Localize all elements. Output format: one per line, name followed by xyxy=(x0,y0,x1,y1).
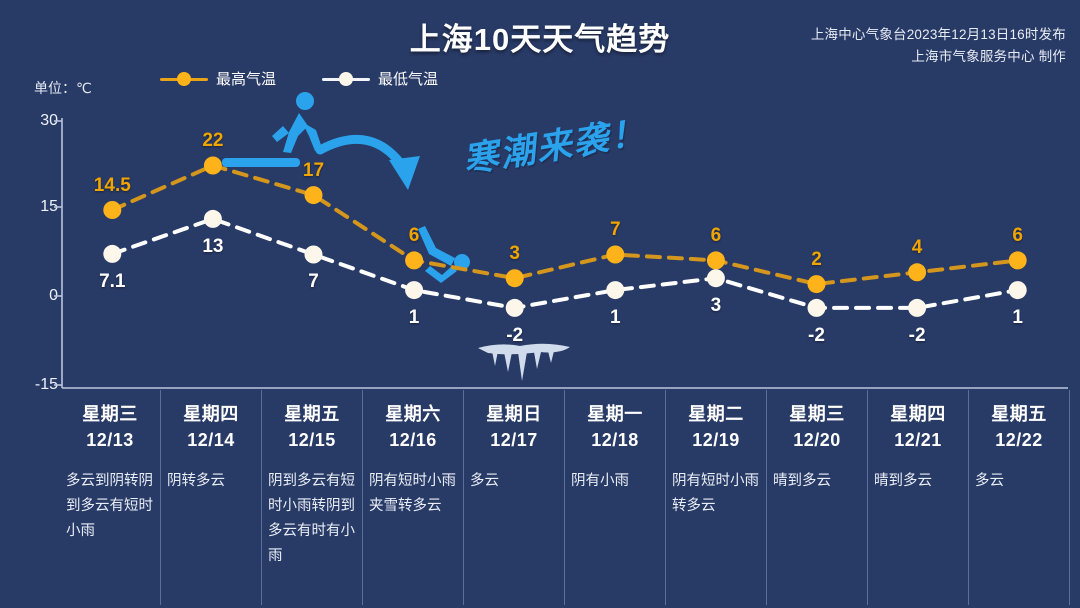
day-column-12-17[interactable]: 星期日12/17多云 xyxy=(464,390,565,605)
low-temp-label-12-13: 7.1 xyxy=(99,271,125,293)
data-point xyxy=(405,281,423,299)
data-point xyxy=(908,299,926,317)
data-point xyxy=(1009,281,1027,299)
day-column-12-14[interactable]: 星期四12/14阴转多云 xyxy=(161,390,262,605)
day-condition-text: 多云 xyxy=(975,469,1063,494)
day-condition-text: 阴有短时小雨转多云 xyxy=(672,469,760,519)
series-line xyxy=(112,166,1017,285)
day-date-label: 12/19 xyxy=(672,430,760,451)
data-point xyxy=(405,251,423,269)
day-date-label: 12/22 xyxy=(975,430,1063,451)
low-temp-label-12-18: 1 xyxy=(610,307,621,329)
day-column-12-20[interactable]: 星期三12/20晴到多云 xyxy=(767,390,868,605)
day-weekday-label: 星期三 xyxy=(773,400,861,426)
day-condition-text: 阴到多云有短时小雨转阴到多云有时有小雨 xyxy=(268,469,356,569)
day-condition-text: 晴到多云 xyxy=(773,469,861,494)
low-temp-label-12-17: -2 xyxy=(506,325,523,347)
day-column-12-15[interactable]: 星期五12/15阴到多云有短时小雨转阴到多云有时有小雨 xyxy=(262,390,363,605)
data-point xyxy=(808,275,826,293)
diver-figure-icon xyxy=(418,226,470,283)
day-date-label: 12/16 xyxy=(369,430,457,451)
cold-wave-arrow-head-icon xyxy=(389,156,420,190)
data-point xyxy=(606,281,624,299)
low-temp-label-12-22: 1 xyxy=(1012,307,1023,329)
low-temp-label-12-15: 7 xyxy=(308,271,319,293)
day-weekday-label: 星期五 xyxy=(268,400,356,426)
icicle-decoration-icon xyxy=(478,344,570,381)
day-column-12-21[interactable]: 星期四12/21晴到多云 xyxy=(868,390,969,605)
data-point xyxy=(808,299,826,317)
day-column-12-16[interactable]: 星期六12/16阴有短时小雨夹雪转多云 xyxy=(363,390,464,605)
day-date-label: 12/20 xyxy=(773,430,861,451)
high-temp-label-12-21: 4 xyxy=(912,237,923,259)
data-point xyxy=(204,157,222,175)
weather-trend-infographic: 上海10天天气趋势 上海中心气象台2023年12月13日16时发布 上海市气象服… xyxy=(0,0,1080,608)
data-point xyxy=(908,263,926,281)
high-temp-label-12-19: 6 xyxy=(711,225,722,247)
day-condition-text: 阴转多云 xyxy=(167,469,255,494)
day-condition-text: 多云到阴转阴到多云有短时小雨 xyxy=(66,469,154,544)
series-line xyxy=(112,219,1017,308)
day-condition-text: 阴有短时小雨夹雪转多云 xyxy=(369,469,457,519)
high-temp-label-12-18: 7 xyxy=(610,219,621,241)
day-weekday-label: 星期日 xyxy=(470,400,558,426)
high-temp-label-12-13: 14.5 xyxy=(94,175,131,197)
data-point xyxy=(204,210,222,228)
day-weekday-label: 星期五 xyxy=(975,400,1063,426)
day-column-12-19[interactable]: 星期二12/19阴有短时小雨转多云 xyxy=(666,390,767,605)
day-weekday-label: 星期六 xyxy=(369,400,457,426)
data-point xyxy=(103,245,121,263)
data-point xyxy=(506,299,524,317)
data-point xyxy=(506,269,524,287)
day-date-label: 12/14 xyxy=(167,430,255,451)
day-date-label: 12/17 xyxy=(470,430,558,451)
day-column-12-22[interactable]: 星期五12/22多云 xyxy=(969,390,1070,605)
data-point xyxy=(707,251,725,269)
day-column-12-13[interactable]: 星期三12/13多云到阴转阴到多云有短时小雨 xyxy=(60,390,161,605)
day-weekday-label: 星期二 xyxy=(672,400,760,426)
day-columns: 星期三12/13多云到阴转阴到多云有短时小雨星期四12/14阴转多云星期五12/… xyxy=(60,390,1070,605)
day-date-label: 12/18 xyxy=(571,430,659,451)
day-weekday-label: 星期三 xyxy=(66,400,154,426)
high-temp-label-12-16: 6 xyxy=(409,225,420,247)
day-condition-text: 多云 xyxy=(470,469,558,494)
high-temp-label-12-20: 2 xyxy=(811,249,822,271)
low-temp-label-12-14: 13 xyxy=(202,236,223,258)
high-temp-label-12-15: 17 xyxy=(303,160,324,182)
high-temp-label-12-14: 22 xyxy=(202,130,223,152)
day-date-label: 12/21 xyxy=(874,430,962,451)
low-temp-label-12-16: 1 xyxy=(409,307,420,329)
day-condition-text: 晴到多云 xyxy=(874,469,962,494)
low-temp-label-12-20: -2 xyxy=(808,325,825,347)
high-temp-label-12-17: 3 xyxy=(509,243,520,265)
day-weekday-label: 星期四 xyxy=(874,400,962,426)
day-weekday-label: 星期一 xyxy=(571,400,659,426)
day-column-12-18[interactable]: 星期一12/18阴有小雨 xyxy=(565,390,666,605)
data-point xyxy=(305,186,323,204)
day-weekday-label: 星期四 xyxy=(167,400,255,426)
high-temp-label-12-22: 6 xyxy=(1012,225,1023,247)
low-temp-label-12-19: 3 xyxy=(711,295,722,317)
day-condition-text: 阴有小雨 xyxy=(571,469,659,494)
series-low-temperature xyxy=(103,210,1026,317)
data-point xyxy=(707,269,725,287)
data-point xyxy=(103,201,121,219)
runner-figure-icon xyxy=(222,92,322,167)
data-point xyxy=(606,246,624,264)
data-point xyxy=(305,246,323,264)
day-date-label: 12/15 xyxy=(268,430,356,451)
data-point xyxy=(1009,251,1027,269)
day-date-label: 12/13 xyxy=(66,430,154,451)
low-temp-label-12-21: -2 xyxy=(909,325,926,347)
series-high-temperature xyxy=(103,157,1026,294)
